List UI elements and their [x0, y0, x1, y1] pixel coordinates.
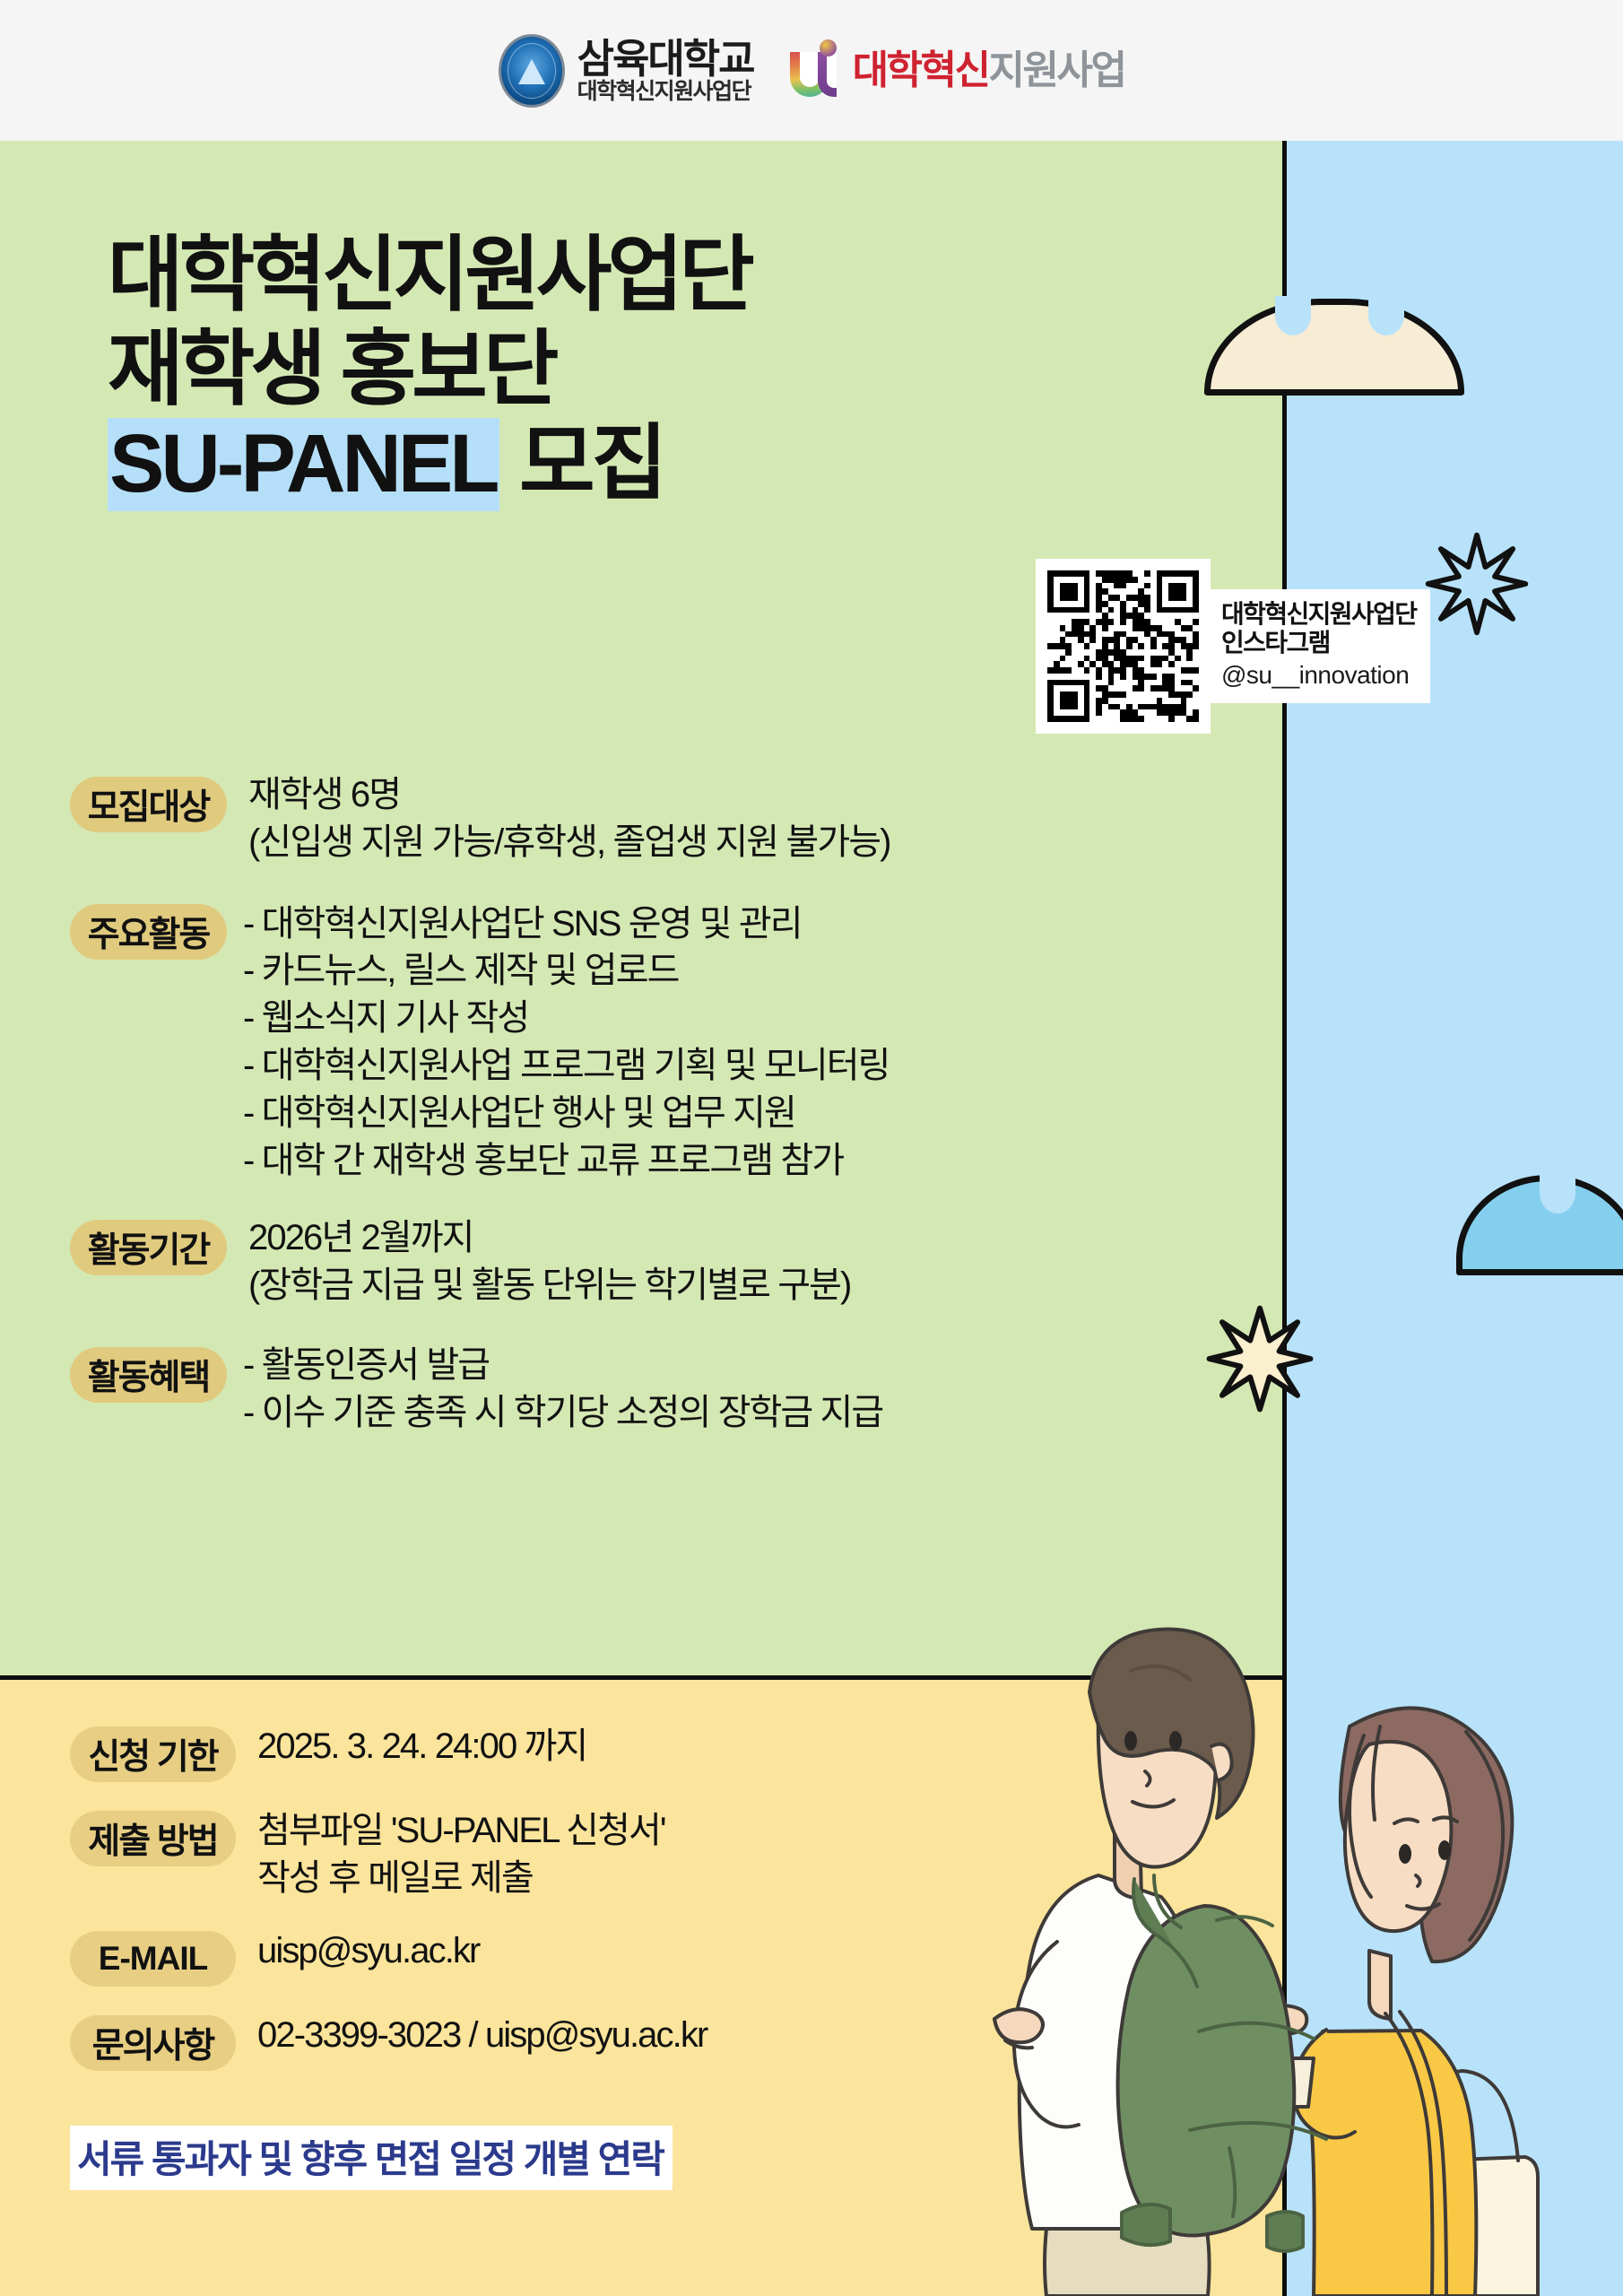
title-highlight-supanel: SU-PANEL — [108, 418, 499, 511]
title-line-2: 재학생 홍보단 — [108, 323, 751, 417]
deadline-line-0: 2025. 3. 24. 24:00 까지 — [257, 1723, 586, 1770]
sparkle-outline-icon — [1424, 531, 1530, 637]
application-deadline-text: 2025. 3. 24. 24:00 까지 — [257, 1723, 586, 1770]
badge-contact: 문의사항 — [70, 2015, 236, 2071]
instagram-handle: @su__innovation — [1221, 659, 1416, 691]
contact-value[interactable]: 02-3399-3023 / uisp@syu.ac.kr — [257, 2012, 707, 2059]
uisp-logo-text: 대학혁신지원사업 — [853, 51, 1125, 91]
sahmyook-name: 삼육대학교 — [577, 39, 754, 79]
application-details-list: 신청 기한 2025. 3. 24. 24:00 까지 제출 방법 첨부파일 '… — [70, 1726, 1110, 2100]
activity-benefits-text: - 활동인증서 발급 - 이수 기준 충족 시 학기당 소정의 장학금 지급 — [243, 1342, 882, 1437]
row-application-deadline: 신청 기한 2025. 3. 24. 24:00 까지 — [70, 1726, 1110, 1782]
activity-period-text: 2026년 2월까지 (장학금 지급 및 활동 단위는 학기별로 구분) — [248, 1214, 850, 1309]
row-email: E-MAIL uisp@syu.ac.kr — [70, 1931, 1110, 1987]
submission-method-text: 첨부파일 'SU-PANEL 신청서' 작성 후 메일로 제출 — [257, 1807, 665, 1902]
row-activity-period: 활동기간 2026년 2월까지 (장학금 지급 및 활동 단위는 학기별로 구분… — [70, 1220, 1254, 1309]
badge-submission-method: 제출 방법 — [70, 1811, 236, 1866]
period-line-0: 2026년 2월까지 — [248, 1214, 850, 1262]
activity-line-1: - 카드뉴스, 릴스 제작 및 업로드 — [243, 947, 890, 995]
main-activities-text: - 대학혁신지원사업단 SNS 운영 및 관리 - 카드뉴스, 릴스 제작 및 … — [243, 900, 890, 1185]
sahmyook-logo-text: 삼육대학교 대학혁신지원사업단 — [577, 39, 754, 103]
row-recruit-target: 모집대상 재학생 6명 (신입생 지원 가능/휴학생, 졸업생 지원 불가능) — [70, 777, 1254, 866]
sahmyook-university-logo: 삼육대학교 대학혁신지원사업단 — [499, 34, 754, 108]
logo-band: 삼육대학교 대학혁신지원사업단 대학혁신지원사업 — [0, 0, 1623, 141]
recruit-target-text: 재학생 6명 (신입생 지원 가능/휴학생, 졸업생 지원 불가능) — [248, 771, 890, 866]
instagram-label-line2: 인스타그램 — [1221, 629, 1416, 657]
contact-text[interactable]: 02-3399-3023 / uisp@syu.ac.kr — [257, 2012, 707, 2059]
title-line-3-rest: 모집 — [499, 418, 664, 509]
sahmyook-emblem-icon — [499, 34, 565, 108]
email-value[interactable]: uisp@syu.ac.kr — [257, 1927, 479, 1975]
row-contact: 문의사항 02-3399-3023 / uisp@syu.ac.kr — [70, 2015, 1110, 2071]
row-activity-benefits: 활동혜택 - 활동인증서 발급 - 이수 기준 충족 시 학기당 소정의 장학금… — [70, 1347, 1254, 1437]
period-line-1: (장학금 지급 및 활동 단위는 학기별로 구분) — [248, 1262, 850, 1309]
row-submission-method: 제출 방법 첨부파일 'SU-PANEL 신청서' 작성 후 메일로 제출 — [70, 1811, 1110, 1902]
badge-activity-benefits: 활동혜택 — [70, 1347, 227, 1403]
activity-line-4: - 대학혁신지원사업단 행사 및 업무 지원 — [243, 1090, 890, 1137]
instagram-label-card: 대학혁신지원사업단 인스타그램 @su__innovation — [1211, 589, 1430, 703]
instagram-qr-block[interactable]: 대학혁신지원사업단 인스타그램 @su__innovation — [1036, 559, 1430, 734]
uisp-ui-mark-icon — [790, 39, 844, 102]
activity-line-0: - 대학혁신지원사업단 SNS 운영 및 관리 — [243, 900, 890, 948]
recruit-details-list: 모집대상 재학생 6명 (신입생 지원 가능/휴학생, 졸업생 지원 불가능) … — [70, 777, 1254, 1437]
title-line-1: 대학혁신지원사업단 — [108, 229, 751, 323]
email-text[interactable]: uisp@syu.ac.kr — [257, 1927, 479, 1975]
qr-code-pattern — [1047, 570, 1199, 722]
activity-line-5: - 대학 간 재학생 홍보단 교류 프로그램 참가 — [243, 1137, 890, 1185]
badge-application-deadline: 신청 기한 — [70, 1726, 236, 1782]
instagram-label-line1: 대학혁신지원사업단 — [1221, 600, 1416, 629]
method-line-1: 작성 후 메일로 제출 — [257, 1855, 665, 1902]
poster-root: 삼육대학교 대학혁신지원사업단 대학혁신지원사업 — [0, 0, 1623, 2296]
recruit-target-line-0: 재학생 6명 — [248, 771, 890, 819]
students-illustration — [964, 1610, 1623, 2296]
badge-recruit-target: 모집대상 — [70, 777, 227, 832]
method-line-0: 첨부파일 'SU-PANEL 신청서' — [257, 1807, 665, 1855]
page-title: 대학혁신지원사업단 재학생 홍보단 SU-PANEL 모집 — [108, 229, 751, 511]
title-line-3: SU-PANEL 모집 — [108, 417, 751, 511]
uisp-text-gray: 지원사업 — [989, 48, 1125, 92]
activity-line-2: - 웹소식지 기사 작성 — [243, 995, 890, 1042]
activity-line-3: - 대학혁신지원사업 프로그램 기획 및 모니터링 — [243, 1042, 890, 1090]
badge-main-activities: 주요활동 — [70, 904, 227, 960]
benefit-line-1: - 이수 기준 충족 시 학기당 소정의 장학금 지급 — [243, 1389, 882, 1437]
benefit-line-0: - 활동인증서 발급 — [243, 1342, 882, 1389]
footnote-notice: 서류 통과자 및 향후 면접 일정 개별 연락 — [70, 2126, 673, 2190]
badge-activity-period: 활동기간 — [70, 1220, 227, 1275]
row-main-activities: 주요활동 - 대학혁신지원사업단 SNS 운영 및 관리 - 카드뉴스, 릴스 … — [70, 904, 1254, 1185]
recruit-target-line-1: (신입생 지원 가능/휴학생, 졸업생 지원 불가능) — [248, 819, 890, 866]
badge-email: E-MAIL — [70, 1931, 236, 1987]
qr-code[interactable] — [1036, 559, 1211, 734]
uisp-program-logo: 대학혁신지원사업 — [790, 39, 1125, 102]
sahmyook-subtitle: 대학혁신지원사업단 — [577, 81, 754, 103]
uisp-text-red: 대학혁신 — [853, 48, 989, 92]
